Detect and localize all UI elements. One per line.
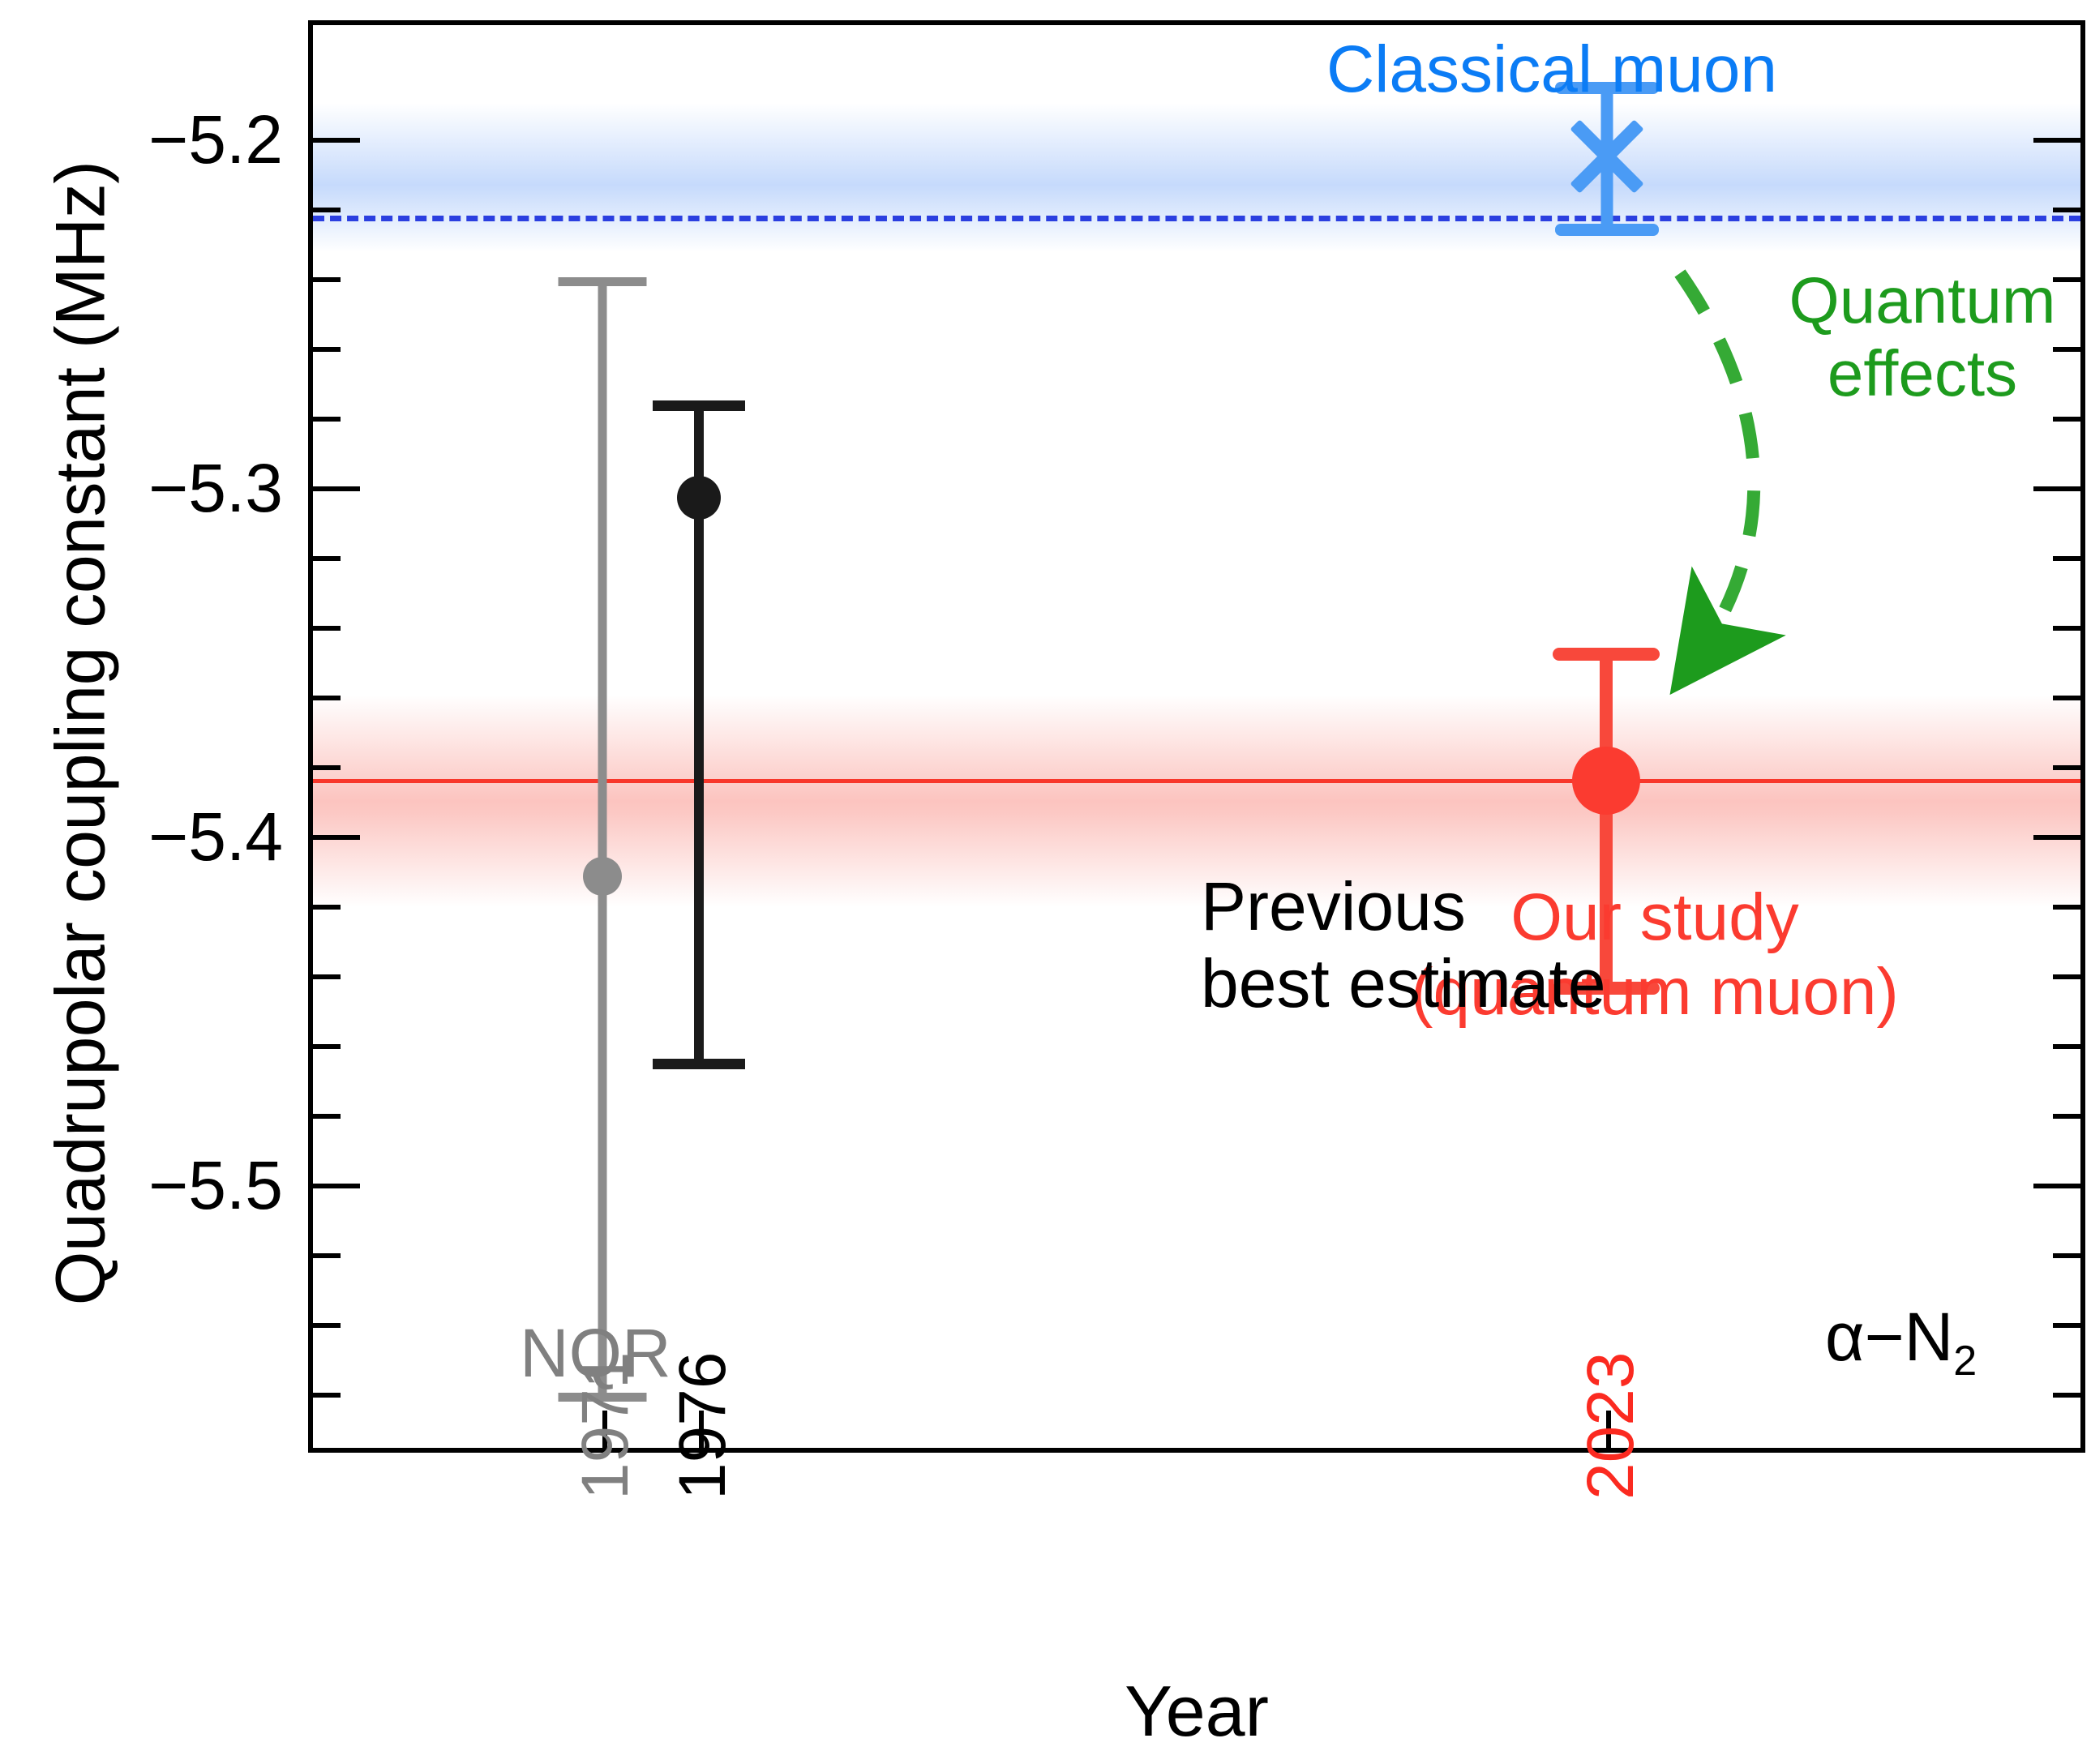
data-point-1976[interactable] [677,476,721,520]
data-point-classical-muon-x-marker[interactable] [1559,109,1655,204]
y-tick-minor-right [2053,1044,2080,1049]
y-tick-label-4: −5.5 [0,1146,283,1225]
y-tick-major-right [2033,138,2080,143]
y-tick-minor-right [2053,1253,2080,1258]
y-tick-minor-right [2053,417,2080,422]
y-tick-minor [313,1323,341,1328]
y-tick-minor-right [2053,765,2080,770]
y-tick-major [313,835,360,840]
x-axis-title: Year [308,1670,2085,1753]
x-tick-label-1976: 1976 [665,1352,741,1500]
data-point-our-study[interactable] [1572,747,1640,815]
y-tick-major [313,1184,360,1188]
y-tick-minor-right [2053,1393,2080,1398]
classical-muon-band [313,103,2080,252]
y-tick-minor [313,417,341,422]
y-tick-minor [313,974,341,979]
y-tick-minor-right [2053,905,2080,910]
y-tick-minor [313,208,341,212]
y-tick-major-right [2033,486,2080,491]
annotation-classical-muon: Classical muon [1326,32,1777,108]
y-tick-label-3: −5.4 [0,798,283,876]
y-tick-minor-right [2053,208,2080,212]
error-stem [598,277,607,1402]
our-study-reference-line [313,779,2080,783]
y-tick-minor [313,1114,341,1119]
x-tick-label-1971: 1971 [568,1352,644,1500]
y-tick-minor [313,765,341,770]
y-tick-minor [313,1393,341,1398]
y-tick-minor [313,905,341,910]
y-tick-major-right [2033,1184,2080,1188]
sample-prefix: α−N [1825,1299,1953,1375]
y-tick-minor [313,556,341,561]
plot-area: Classical muon Quantum effects Our study… [308,20,2085,1453]
y-tick-minor [313,1253,341,1258]
y-tick-minor-right [2053,626,2080,631]
y-tick-minor [313,1044,341,1049]
chart-figure: Quadrupolar coupling constant (MHz) −5.2… [0,0,2091,1764]
error-cap-lower [1555,224,1659,236]
classical-muon-reference-line [313,216,2080,221]
y-tick-major [313,138,360,143]
sample-subscript: 2 [1953,1338,1977,1385]
y-tick-minor-right [2053,556,2080,561]
y-tick-minor-right [2053,1323,2080,1328]
y-tick-minor [313,277,341,282]
quantum-effects-line1: Quantum [1695,264,2080,337]
y-tick-minor-right [2053,1114,2080,1119]
y-tick-minor [313,347,341,352]
annotation-sample-alpha-n2: α−N2 [1825,1298,1977,1385]
y-tick-minor-right [2053,974,2080,979]
y-tick-major [313,486,360,491]
y-tick-label-1: −5.2 [0,101,283,179]
y-tick-minor-right [2053,696,2080,700]
y-tick-major-right [2033,835,2080,840]
y-tick-label-2: −5.3 [0,449,283,528]
previous-line2: best estimate [1201,945,1849,1022]
error-cap-lower [653,1059,745,1069]
y-tick-minor [313,626,341,631]
y-tick-minor [313,696,341,700]
quantum-effects-line2: effects [1695,337,2080,410]
annotation-quantum-effects: Quantum effects [1695,264,2080,409]
data-point-1971[interactable] [583,857,622,896]
previous-line1: Previous [1201,868,1849,945]
x-tick-label-2023: 2023 [1573,1352,1649,1500]
annotation-previous-best-estimate: Previous best estimate [1201,868,1849,1022]
